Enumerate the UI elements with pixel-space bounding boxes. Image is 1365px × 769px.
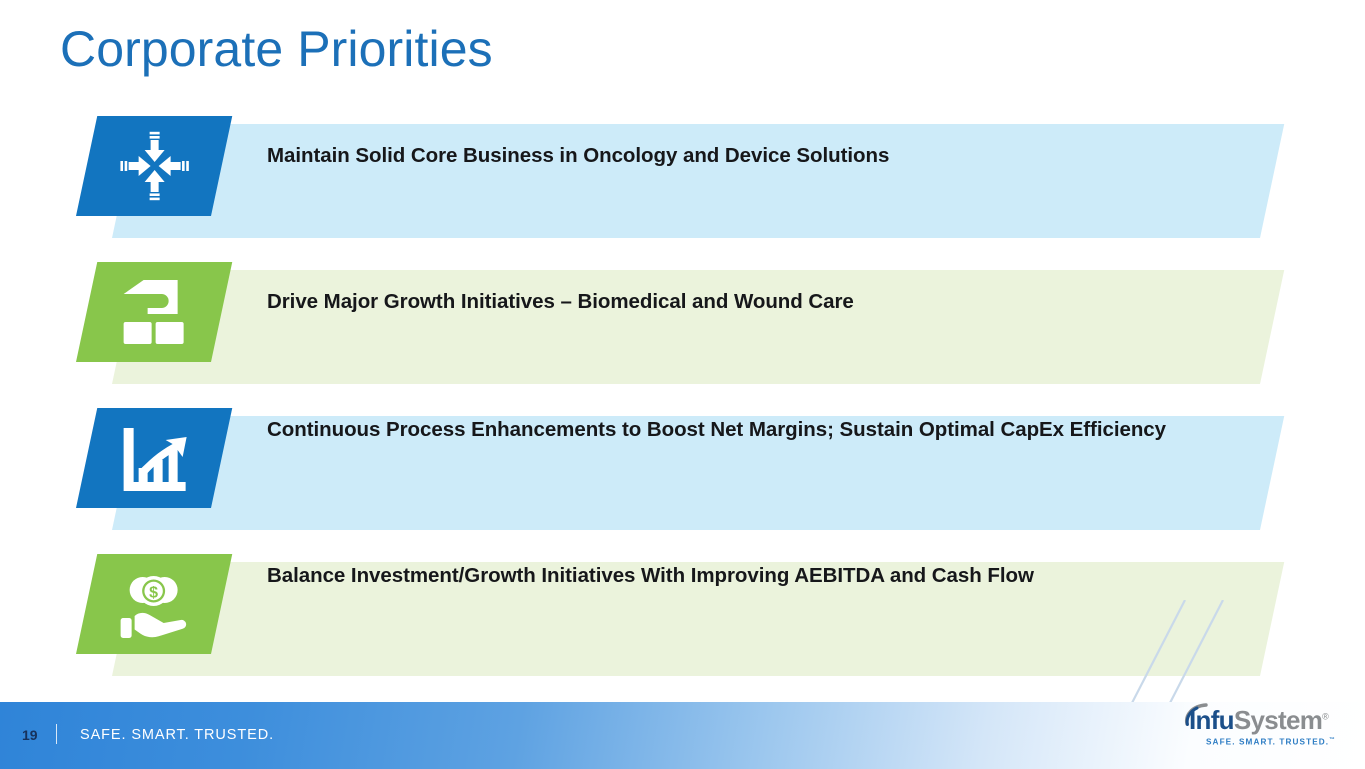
logo-tagline: SAFE. SMART. TRUSTED.™ [1206, 737, 1336, 747]
priority-row: Maintain Solid Core Business in Oncology… [0, 116, 1365, 262]
bar-chart-growth-arrow-icon [87, 408, 222, 508]
priority-icon-badge: $ [76, 554, 232, 654]
priority-icon-badge [76, 116, 232, 216]
svg-text:$: $ [149, 585, 158, 602]
priority-row: Continuous Process Enhancements to Boost… [0, 408, 1365, 554]
logo-word-infu: Infu [1189, 705, 1234, 735]
footer-divider [56, 724, 57, 744]
priority-label: Balance Investment/Growth Initiatives Wi… [267, 558, 1167, 594]
page-title: Corporate Priorities [60, 18, 493, 80]
logo-registered-mark: ® [1322, 711, 1328, 721]
logo-tagline-text: SAFE. SMART. TRUSTED. [1206, 738, 1329, 747]
priority-row: $ Balance Investment/Growth Initiatives … [0, 554, 1365, 700]
priority-row: Drive Major Growth Initiatives – Biomedi… [0, 262, 1365, 408]
priority-label: Drive Major Growth Initiatives – Biomedi… [267, 284, 1167, 320]
logo-word-system: System [1234, 705, 1322, 735]
footer-page-number: 19 [22, 727, 38, 743]
priority-label: Continuous Process Enhancements to Boost… [267, 412, 1167, 448]
priority-icon-badge [76, 262, 232, 362]
four-arrows-inward-icon [87, 116, 222, 216]
hand-holding-money-icon: $ [87, 554, 222, 654]
infusystem-logo: InfuSystem® SAFE. SMART. TRUSTED.™ [1178, 705, 1350, 751]
logo-wordmark: InfuSystem® [1189, 705, 1328, 736]
footer-tagline: SAFE. SMART. TRUSTED. [80, 727, 274, 743]
logo-tagline-mark: ™ [1329, 737, 1336, 743]
building-blocks-icon [87, 262, 222, 362]
priority-icon-badge [76, 408, 232, 508]
priority-label: Maintain Solid Core Business in Oncology… [267, 138, 1167, 174]
